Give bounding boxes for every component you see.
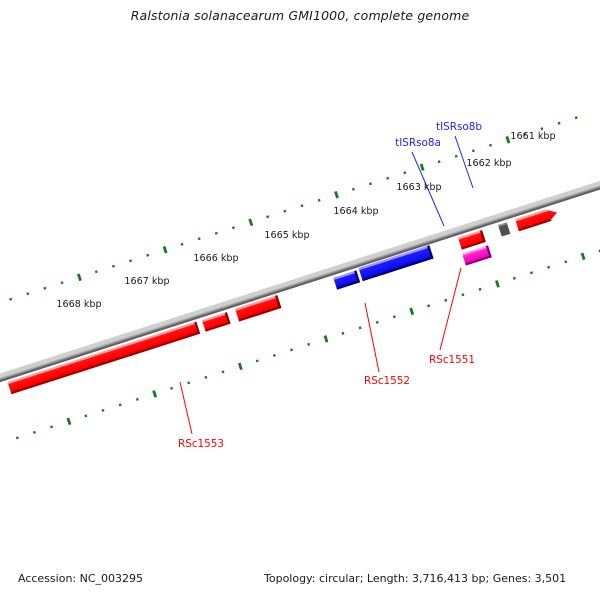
genome-backbone[interactable] [0, 180, 600, 384]
gene-label-RSc1552[interactable]: RSc1552 [364, 375, 410, 387]
leader-line-RSc1551 [440, 268, 461, 350]
gene-feature-unlabeled-rna[interactable] [462, 245, 492, 265]
feature-clipped-gray-stub [498, 222, 510, 236]
label-leader-lines [180, 136, 473, 434]
gene-label-RSc1553[interactable]: RSc1553 [178, 438, 224, 450]
status-bar: Accession: NC_003295 Topology: circular;… [0, 572, 600, 592]
leader-line-RSc1552 [365, 303, 379, 372]
scale-tick-label: 1668 kbp [56, 299, 101, 310]
gene-label-tISRso8b[interactable]: tISRso8b [436, 121, 482, 133]
scale-tick-label: 1662 kbp [466, 158, 511, 169]
genome-map-view: Ralstonia solanacearum GMI1000, complete… [0, 0, 600, 600]
leader-line-RSc1553 [180, 382, 192, 434]
gene-label-RSc1551[interactable]: RSc1551 [429, 354, 475, 366]
scale-tick-label: 1667 kbp [124, 276, 169, 287]
gene-label-tISRso8a[interactable]: tISRso8a [395, 137, 441, 149]
gene-feature-RSc1553[interactable] [8, 322, 201, 395]
scale-tick-label: 1666 kbp [193, 253, 238, 264]
topology-text: Topology: circular; Length: 3,716,413 bp… [264, 572, 566, 585]
scale-tick-label: 1663 kbp [396, 182, 441, 193]
genome-map-canvas[interactable]: 1661 kbp 1662 kbp 1663 kbp 1664 kbp 1665… [0, 0, 600, 600]
scale-tick-label: 1664 kbp [333, 206, 378, 217]
gene-name-labels[interactable]: tISRso8a tISRso8b RSc1551 RSc1552 RSc155… [178, 121, 482, 450]
accession-text: Accession: NC_003295 [18, 572, 143, 585]
scale-tick-label: 1665 kbp [264, 230, 309, 241]
scale-tick-label: 1661 kbp [510, 131, 555, 142]
